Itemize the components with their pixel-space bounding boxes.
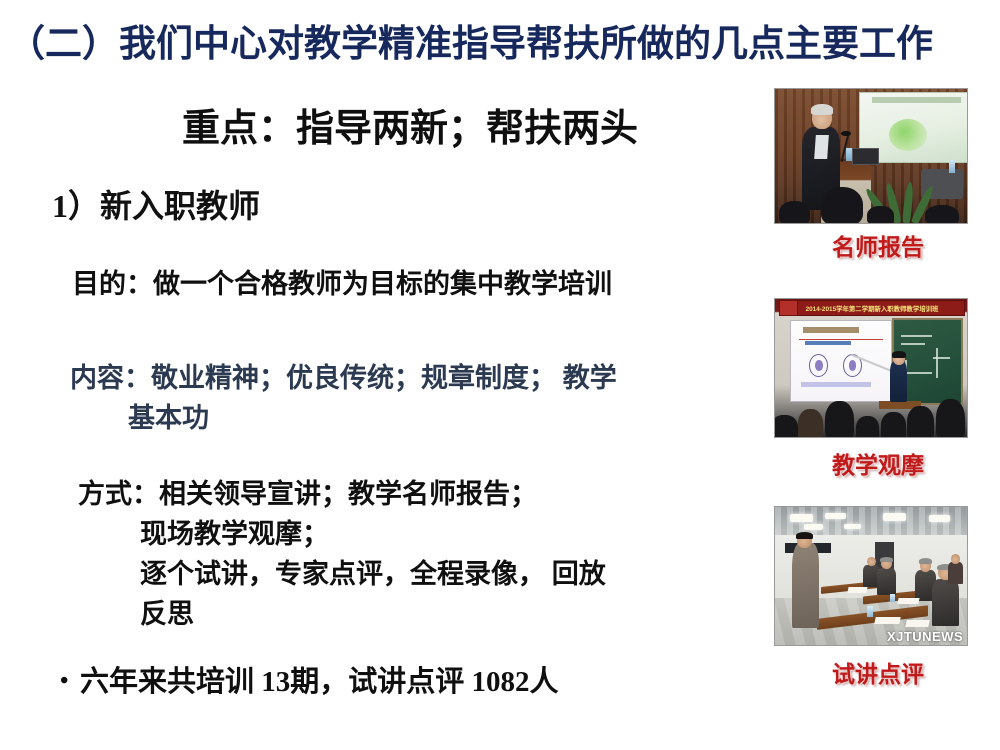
photo2-banner-text: 2014-2015学年第二学期新入职教师教学培训班	[806, 304, 939, 313]
photo-teaching-observation: 2014-2015学年第二学期新入职教师教学培训班	[774, 298, 968, 438]
photo3-water-bottle	[890, 594, 895, 602]
photo-trial-lecture-review: XJTUNEWS	[774, 506, 968, 646]
photo2-chalk-mark	[936, 348, 938, 378]
photo3-ceiling-light	[804, 524, 823, 531]
statistics-bullet: •六年来共培训 13期，试讲点评 1082人	[60, 658, 559, 700]
photo2-banner: 2014-2015学年第二学期新入职教师教学培训班	[779, 300, 965, 316]
photo-keynote-lecture	[774, 88, 968, 224]
photo2-slide-subtitle	[805, 341, 851, 345]
slide-subtitle: 重点：指导两新；帮扶两头	[60, 97, 760, 152]
photo2-projection-screen	[790, 320, 892, 402]
method-line-4: 反思	[78, 594, 606, 634]
photo2-student-head	[856, 416, 879, 438]
photo1-audience-head	[925, 205, 960, 224]
photo1-screen-title-bar	[872, 97, 961, 103]
section-heading: 1）新入职教师	[52, 181, 260, 227]
photo2-students	[775, 393, 967, 437]
photo2-side-placard	[779, 300, 798, 316]
purpose-line: 目的：做一个合格教师为目标的集中教学培训	[72, 264, 612, 304]
bullet-dot-icon: •	[60, 668, 80, 695]
photo2-chalk-mark	[901, 335, 932, 337]
photo3-paper	[874, 617, 900, 624]
photo2-student-head	[936, 399, 965, 438]
photo3-paper	[897, 598, 919, 604]
photo3-attendee-head	[951, 554, 961, 564]
photo1-speaker-shirt	[814, 135, 829, 159]
photo3-ceiling-light	[844, 524, 861, 530]
purpose-block: 目的：做一个合格教师为目标的集中教学培训	[72, 264, 612, 304]
photo1-microphone-head	[841, 131, 851, 136]
photo2-student-head	[774, 415, 798, 438]
photo1-audience-head	[867, 206, 894, 224]
photo3-watermark: XJTUNEWS	[887, 629, 963, 644]
method-line-2: 现场教学观摩；	[78, 514, 606, 554]
presentation-slide: （二）我们中心对教学精准指导帮扶所做的几点主要工作 重点：指导两新；帮扶两头 1…	[0, 0, 1000, 750]
photo3-attendee-hair	[880, 557, 893, 563]
photo1-screen-graphic	[889, 119, 927, 151]
method-line-3: 逐个试讲，专家点评，全程录像， 回放	[78, 554, 606, 594]
method-line-1: 方式：相关领导宣讲；教学名师报告；	[78, 474, 606, 514]
photo3-attendee-body	[932, 579, 959, 626]
photo2-slide-title	[803, 327, 859, 333]
photo1-audience-head	[779, 201, 810, 225]
photo2-teacher-hair	[892, 351, 905, 357]
photo3-ceiling-light	[929, 515, 950, 522]
content-line-1: 内容：敬业精神；优良传统；规章制度； 教学	[70, 358, 617, 398]
photo2-student-head	[798, 409, 823, 438]
photo-caption-observation: 教学观摩	[758, 446, 998, 480]
photo2-slide-rule	[799, 339, 883, 340]
photo3-water-bottle	[867, 606, 873, 617]
photo2-slide-footer	[801, 382, 871, 388]
photo1-water-bottle	[846, 148, 852, 161]
photo2-student-head	[881, 412, 906, 438]
photo2-diagram-orb	[809, 354, 828, 377]
photo3-ceiling-light	[883, 513, 906, 521]
photo1-audience-head	[821, 187, 863, 224]
photo3-attendee-body	[877, 568, 896, 596]
statistics-bullet-text: 六年来共培训 13期，试讲点评 1082人	[80, 666, 559, 698]
photo-caption-trial-review: 试讲点评	[758, 655, 998, 689]
photo3-paper	[905, 620, 929, 627]
photo3-ceiling-light	[825, 513, 846, 520]
photo3-attendee-hair	[919, 558, 932, 564]
photo1-water-bottle-right	[949, 160, 956, 173]
photo3-presenter-body	[792, 543, 819, 629]
photo3-ceiling-light	[790, 514, 813, 522]
photo1-laptop	[852, 148, 879, 165]
content-block: 内容：敬业精神；优良传统；规章制度； 教学 基本功	[70, 358, 617, 438]
photo3-attendee-body	[948, 562, 963, 584]
photo1-speaker-hair	[811, 104, 832, 115]
content-line-2: 基本功	[70, 398, 617, 438]
photo2-student-head	[825, 401, 854, 438]
photo3-presenter-hair	[796, 532, 813, 539]
photo-caption-keynote: 名师报告	[758, 228, 998, 262]
method-block: 方式：相关领导宣讲；教学名师报告； 现场教学观摩； 逐个试讲，专家点评，全程录像…	[78, 474, 606, 634]
slide-title: （二）我们中心对教学精准指导帮扶所做的几点主要工作	[8, 24, 992, 67]
photo1-audience	[775, 183, 967, 223]
photo2-chalk-mark	[901, 343, 925, 345]
photo2-student-head	[907, 406, 934, 438]
photo3-paper	[847, 587, 867, 593]
